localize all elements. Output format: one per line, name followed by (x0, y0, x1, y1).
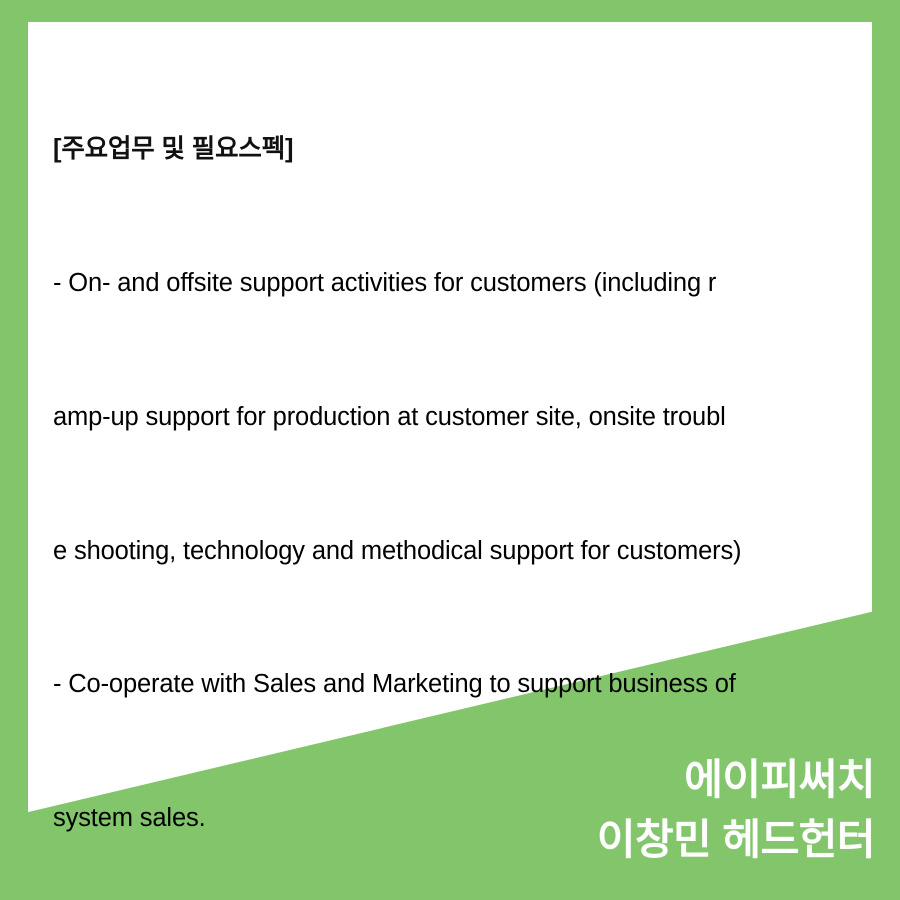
body-line: - Co-operate with Sales and Marketing to… (53, 662, 868, 707)
body-line: amp-up support for production at custome… (53, 395, 868, 440)
body-line: e shooting, technology and methodical su… (53, 529, 868, 574)
signature-person: 이창민 헤드헌터 (597, 810, 875, 870)
signature-company: 에이피써치 (597, 750, 875, 810)
body-line: - On- and offsite support activities for… (53, 261, 868, 306)
slide-canvas: [주요업무 및 필요스펙] - On- and offsite support … (0, 0, 900, 900)
section-heading: [주요업무 및 필요스펙] (53, 127, 868, 172)
signature-block: 에이피써치 이창민 헤드헌터 (597, 750, 875, 870)
